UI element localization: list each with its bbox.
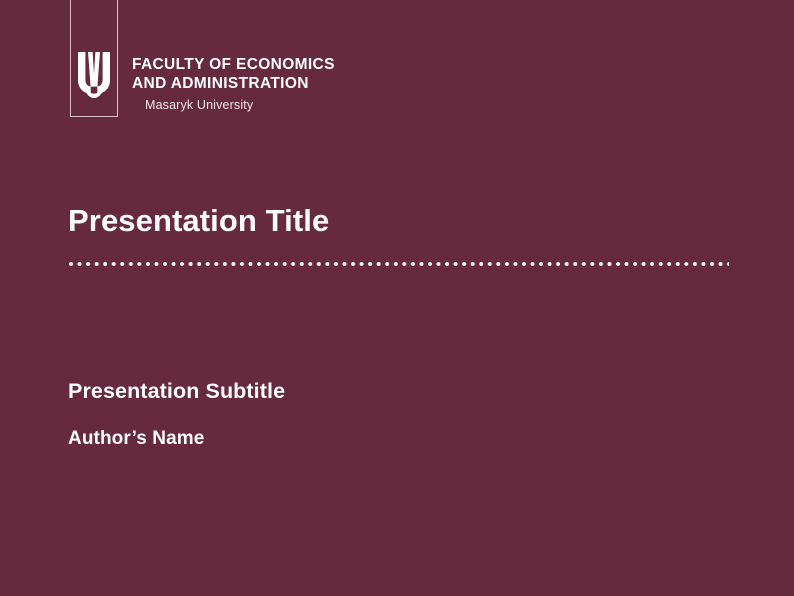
university-name: Masaryk University <box>145 97 462 114</box>
page-subtitle: Presentation Subtitle <box>68 379 285 404</box>
mu-monogram-icon <box>78 52 110 98</box>
presentation-slide: FACULTY OF ECONOMICS AND ADMINISTRATION … <box>0 0 794 596</box>
page-title: Presentation Title <box>68 203 329 239</box>
faculty-line-2: AND ADMINISTRATION <box>132 74 462 93</box>
faculty-line-1: FACULTY OF ECONOMICS <box>132 55 462 74</box>
logo-wordmark: FACULTY OF ECONOMICS AND ADMINISTRATION … <box>132 55 462 114</box>
brand-logo: FACULTY OF ECONOMICS AND ADMINISTRATION … <box>70 0 470 125</box>
dotted-divider <box>69 261 729 267</box>
author-name: Author’s Name <box>68 428 204 450</box>
